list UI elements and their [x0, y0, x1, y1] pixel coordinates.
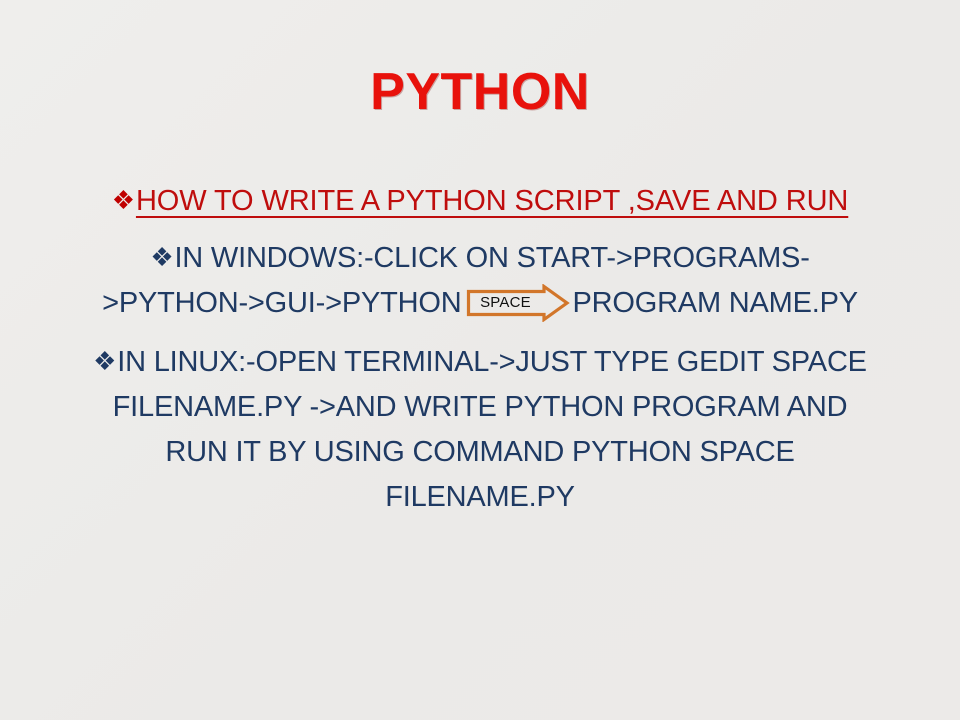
bullet-item-windows: ❖IN WINDOWS:-CLICK ON START->PROGRAMS- — [28, 235, 932, 281]
slide-body: ❖HOW TO WRITE A PYTHON SCRIPT ,SAVE AND … — [28, 178, 932, 520]
windows-instruction-line2-after-arrow: PROGRAM NAME.PY — [572, 287, 857, 319]
windows-instruction-line2-before-arrow: >PYTHON->GUI->PYTHON — [102, 287, 461, 319]
linux-instruction-line2: FILENAME.PY ->AND WRITE PYTHON PROGRAM A… — [28, 385, 932, 430]
linux-instruction-line3: RUN IT BY USING COMMAND PYTHON SPACE — [28, 430, 932, 475]
diamond-bullet-icon: ❖ — [150, 242, 174, 272]
linux-instruction-line4: FILENAME.PY — [28, 475, 932, 520]
windows-instruction-line1: IN WINDOWS:-CLICK ON START->PROGRAMS- — [174, 242, 809, 274]
space-block-arrow: SPACE — [466, 284, 570, 322]
diamond-bullet-icon: ❖ — [112, 185, 136, 215]
linux-instruction-line1: IN LINUX:-OPEN TERMINAL->JUST TYPE GEDIT… — [117, 346, 867, 378]
bullet-item-heading: ❖HOW TO WRITE A PYTHON SCRIPT ,SAVE AND … — [28, 178, 932, 223]
diamond-bullet-icon: ❖ — [93, 346, 117, 376]
presentation-slide: PYTHON ❖HOW TO WRITE A PYTHON SCRIPT ,SA… — [0, 0, 960, 720]
space-arrow-label: SPACE — [466, 284, 544, 322]
page-title: PYTHON — [0, 66, 960, 118]
heading-bullet-text: HOW TO WRITE A PYTHON SCRIPT ,SAVE AND R… — [136, 185, 848, 217]
bullet-item-linux: ❖IN LINUX:-OPEN TERMINAL->JUST TYPE GEDI… — [28, 339, 932, 385]
windows-instruction-line2-row: >PYTHON->GUI->PYTHON SPACE PROGRAM NAME.… — [28, 281, 932, 326]
